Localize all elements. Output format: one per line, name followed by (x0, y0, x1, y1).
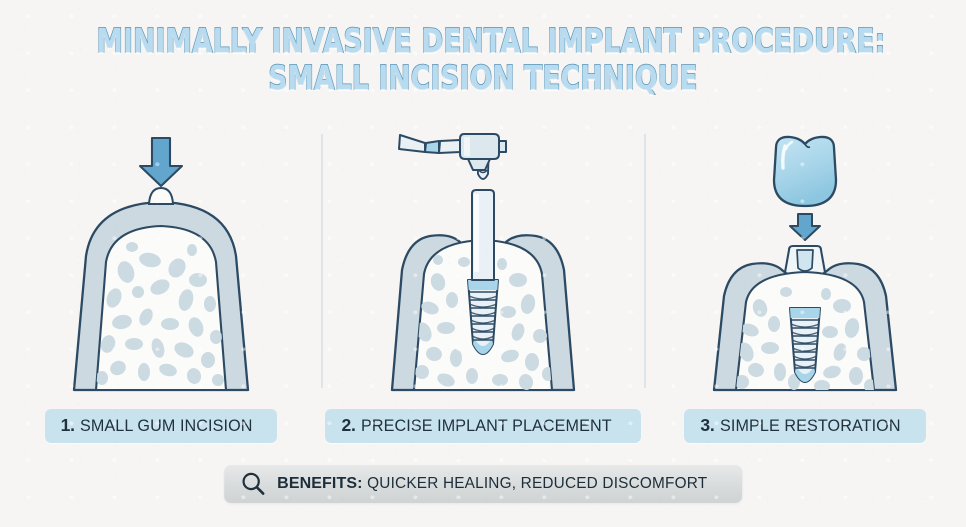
step-panel-1 (0, 128, 322, 394)
step-label-cell-2: 2. PRECISE IMPLANT PLACEMENT (322, 409, 644, 443)
step-panel-2 (322, 128, 644, 394)
step-number-1: 1. (61, 415, 75, 436)
implant-screw (790, 308, 820, 382)
benefits-label: BENEFITS: (277, 475, 362, 493)
illustration-gum-incision (46, 132, 276, 394)
step-number-2: 2. (341, 415, 355, 436)
incision-notch (149, 188, 173, 204)
page-title: MINIMALLY INVASIVE DENTAL IMPLANT PROCED… (0, 22, 966, 96)
benefits-text: BENEFITS: QUICKER HEALING, REDUCED DISCO… (277, 475, 722, 493)
step-label-cell-1: 1. SMALL GUM INCISION (0, 409, 322, 443)
title-line-1: MINIMALLY INVASIVE DENTAL IMPLANT PROCED… (97, 22, 870, 59)
step-number-3: 3. (700, 415, 714, 436)
step-label-1[interactable]: 1. SMALL GUM INCISION (45, 409, 278, 443)
benefits-bar: BENEFITS: QUICKER HEALING, REDUCED DISCO… (224, 465, 742, 503)
magnifier-icon (240, 471, 266, 497)
down-arrow-icon (790, 214, 820, 240)
step-panel-3 (644, 128, 966, 394)
down-arrow-icon (140, 138, 182, 186)
illustration-crown-restoration (690, 132, 920, 394)
benefits-value: QUICKER HEALING, REDUCED DISCOMFORT (368, 475, 708, 493)
implant-screw (468, 280, 498, 354)
step-label-cell-3: 3. SIMPLE RESTORATION (644, 409, 966, 443)
panel-divider-2 (644, 134, 646, 388)
step-text-2: PRECISE IMPLANT PLACEMENT (361, 416, 612, 436)
illustration-implant-placement (368, 132, 598, 394)
step-text-1: SMALL GUM INCISION (80, 416, 253, 436)
title-line-2: SMALL INCISION TECHNIQUE (97, 59, 870, 96)
step-label-2[interactable]: 2. PRECISE IMPLANT PLACEMENT (325, 409, 640, 443)
dental-handpiece (399, 134, 506, 170)
steps-illustration-row (0, 128, 966, 394)
post-highlight (474, 194, 479, 272)
step-text-3: SIMPLE RESTORATION (720, 416, 901, 436)
dental-crown (774, 137, 836, 206)
step-labels-row: 1. SMALL GUM INCISION 2. PRECISE IMPLANT… (0, 409, 966, 443)
panel-divider-1 (321, 134, 323, 388)
step-label-3[interactable]: 3. SIMPLE RESTORATION (684, 409, 925, 443)
